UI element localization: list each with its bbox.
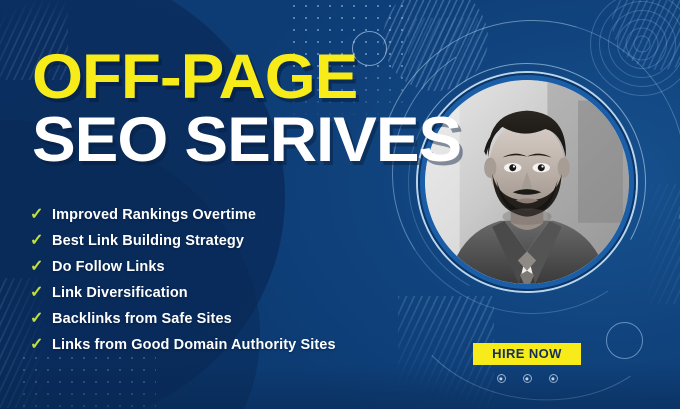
feature-label: Backlinks from Safe Sites — [52, 311, 232, 327]
feature-label: Link Diversification — [52, 285, 188, 301]
check-icon: ✓ — [30, 207, 52, 223]
feature-label: Do Follow Links — [52, 259, 165, 275]
feature-label: Improved Rankings Overtime — [52, 207, 256, 223]
bottom-glow — [0, 363, 680, 409]
check-icon: ✓ — [30, 311, 52, 327]
hire-now-button[interactable]: HIRE NOW — [473, 343, 581, 365]
title-primary: OFF-PAGE — [32, 48, 461, 107]
feature-label: Links from Good Domain Authority Sites — [52, 337, 336, 353]
list-item: ✓ Link Diversification — [30, 280, 336, 305]
list-item: ✓ Best Link Building Strategy — [30, 228, 336, 253]
feature-label: Best Link Building Strategy — [52, 233, 244, 249]
check-icon: ✓ — [30, 259, 52, 275]
text-content: OFF-PAGE SEO SERIVES ✓ Improved Rankings… — [0, 0, 430, 409]
check-icon: ✓ — [30, 233, 52, 249]
page-title: OFF-PAGE SEO SERIVES — [32, 48, 445, 170]
check-icon: ✓ — [30, 337, 52, 353]
title-secondary: SEO SERIVES — [32, 111, 461, 171]
feature-list: ✓ Improved Rankings Overtime ✓ Best Link… — [30, 202, 336, 358]
list-item: ✓ Do Follow Links — [30, 254, 336, 279]
list-item: ✓ Links from Good Domain Authority Sites — [30, 332, 336, 357]
seo-service-banner: OFF-PAGE SEO SERIVES ✓ Improved Rankings… — [0, 0, 680, 409]
list-item: ✓ Improved Rankings Overtime — [30, 202, 336, 227]
check-icon: ✓ — [30, 285, 52, 301]
list-item: ✓ Backlinks from Safe Sites — [30, 306, 336, 331]
